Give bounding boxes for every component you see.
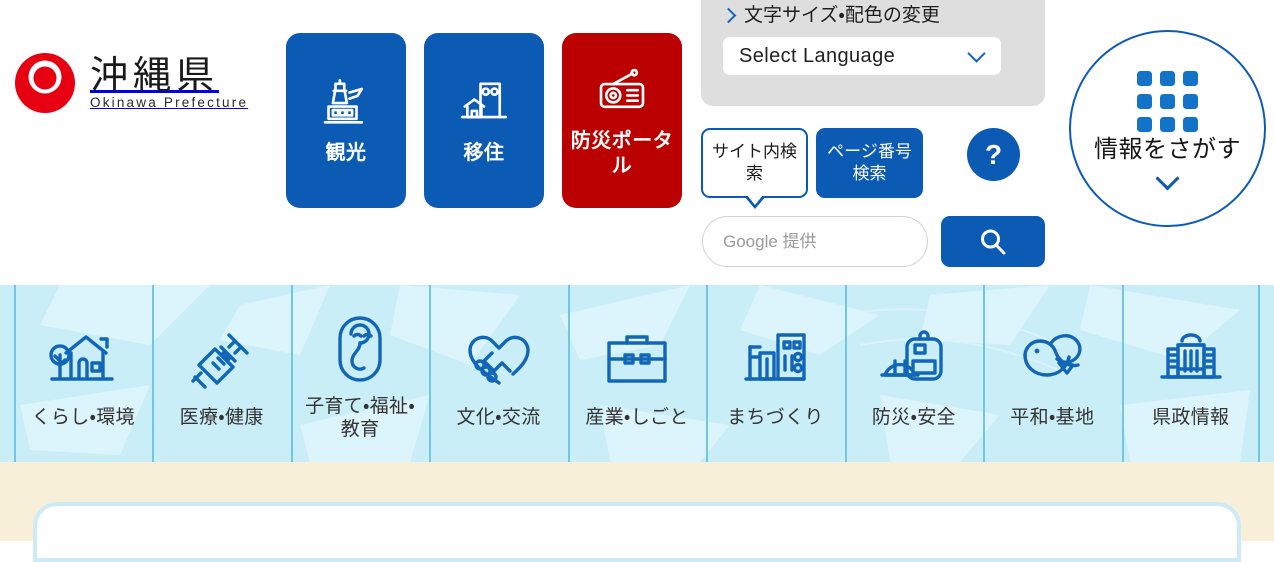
okinawa-prefecture-emblem-icon [14,52,76,114]
airport-control-tower-icon [318,75,374,131]
category-item-town-planning[interactable]: まちづくり [706,285,844,462]
category-item-label: 子育て・福祉・教育 [301,396,419,441]
quick-button-label: 移住 [464,141,505,166]
search-icon [977,226,1009,258]
grid-3x3-icon [1137,71,1198,132]
logo-title-en: Okinawa Prefecture [90,96,248,110]
quick-button-label: 観光 [326,141,367,166]
house-building-icon [456,75,512,131]
tab-page-number-search[interactable]: ページ番号検索 [816,128,923,198]
syringe-icon [185,323,259,397]
tab-label: サイト内検索 [709,141,800,185]
city-buildings-icon [738,323,812,397]
search-submit-button[interactable] [941,216,1045,267]
category-nav-items: くらし・環境 医療・健康 [0,285,1274,462]
helmet-backpack-icon [877,323,951,397]
category-item-peace-bases[interactable]: 平和・基地 [983,285,1121,462]
utility-panel: 文字サイズ・配色の変更 Select Language [701,0,1045,106]
category-navigation: くらし・環境 医療・健康 [0,285,1274,462]
category-item-medical-health[interactable]: 医療・健康 [152,285,290,462]
text-size-color-settings-label: 文字サイズ・配色の変更 [744,6,940,25]
site-header: 沖縄県 Okinawa Prefecture 観光 [0,0,1274,285]
radio-icon [594,63,650,119]
tab-site-search[interactable]: サイト内検索 [701,128,808,198]
site-logo[interactable]: 沖縄県 Okinawa Prefecture [14,52,248,114]
language-select-value: Select Language [739,45,895,68]
house-tree-icon [46,323,120,397]
category-item-label: まちづくり [727,407,824,429]
baby-in-womb-icon [323,312,397,386]
category-item-childcare-welfare-education[interactable]: 子育て・福祉・教育 [291,285,429,462]
category-item-label: 文化・交流 [457,407,541,429]
find-information-button[interactable]: 情報をさがす [1069,30,1266,227]
chevron-right-icon [721,7,737,23]
logo-title-jp: 沖縄県 [90,56,248,94]
category-item-label: くらし・環境 [32,407,135,429]
quick-button-label: 防災ポータル [570,129,674,179]
logo-text-block: 沖縄県 Okinawa Prefecture [90,56,248,110]
category-item-industry-work[interactable]: 産業・しごと [568,285,706,462]
chevron-down-icon [967,44,985,62]
quick-access-buttons: 観光 移住 [286,33,682,208]
category-item-prefectural-information[interactable]: 県政情報 [1122,285,1260,462]
handshake-heart-icon [462,323,536,397]
quick-button-tourism[interactable]: 観光 [286,33,406,208]
find-information-label: 情報をさがす [1094,138,1241,162]
text-size-color-settings-link[interactable]: 文字サイズ・配色の変更 [723,6,1023,25]
search-tabs: サイト内検索 ページ番号検索 [701,128,923,198]
page-root: 沖縄県 Okinawa Prefecture 観光 [0,0,1274,541]
category-item-culture-exchange[interactable]: 文化・交流 [429,285,567,462]
briefcase-icon [600,323,674,397]
dove-icon [1015,323,1089,397]
category-item-label: 産業・しごと [585,407,688,429]
content-card [33,502,1241,562]
category-item-living-environment[interactable]: くらし・環境 [14,285,152,462]
search-input[interactable] [702,216,928,267]
category-item-label: 医療・健康 [180,407,264,429]
tab-label: ページ番号検索 [824,141,915,185]
chevron-down-icon [1155,166,1179,190]
quick-button-disaster-portal[interactable]: 防災ポータル [562,33,682,208]
category-item-label: 県政情報 [1152,407,1229,429]
category-item-label: 防災・安全 [872,407,956,429]
quick-button-relocation[interactable]: 移住 [424,33,544,208]
category-item-label: 平和・基地 [1010,407,1094,429]
help-button[interactable]: ? [967,128,1020,181]
category-item-disaster-safety[interactable]: 防災・安全 [845,285,983,462]
language-select[interactable]: Select Language [723,37,1001,75]
government-building-icon [1154,323,1228,397]
